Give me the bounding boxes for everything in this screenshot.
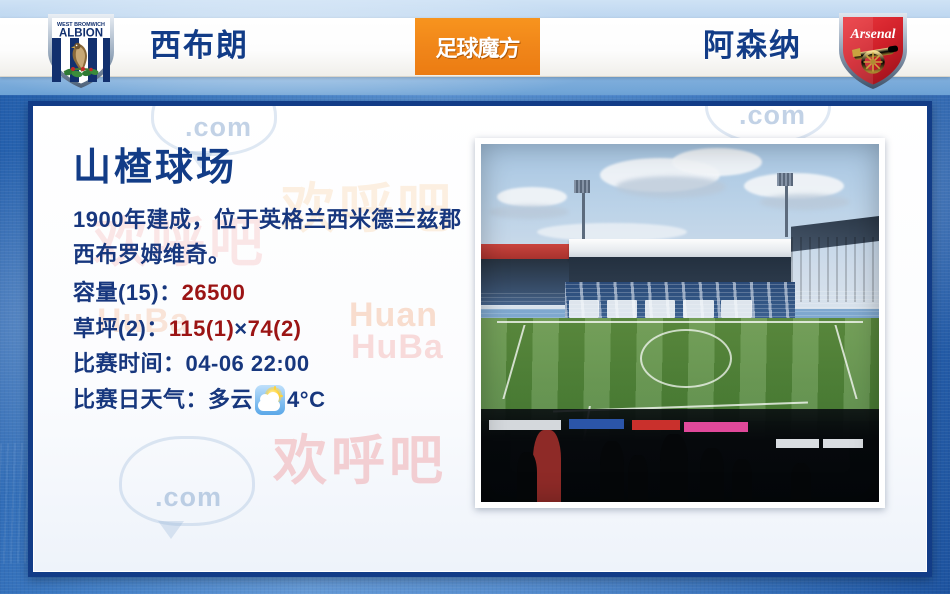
match-time-label: 比赛时间： (73, 351, 186, 376)
away-team-crest[interactable]: Arsenal (834, 6, 912, 92)
capacity-value: 26500 (182, 280, 246, 305)
watermark-brand: 欢呼吧 (273, 416, 447, 495)
pitch-separator: × (234, 316, 247, 341)
capacity-row: 容量(15)：26500 (73, 275, 493, 311)
watermark-bubble (119, 436, 255, 526)
match-time-value: 04-06 22:00 (186, 351, 310, 376)
home-team-name: 西布朗 (150, 20, 249, 72)
cloud-shape (258, 400, 280, 411)
weather-label: 比赛日天气： (73, 382, 208, 418)
pitch-length: 115(1) (169, 316, 234, 341)
match-info-page: WEST BROMWICH ALBION 西布朗 足球魔 (0, 0, 950, 594)
home-team-crest[interactable]: WEST BROMWICH ALBION (42, 6, 120, 92)
stadium-info: 山楂球场 1900年建成，位于英格兰西米德兰兹郡西布罗姆维奇。 容量(15)：2… (73, 148, 493, 418)
stadium-photo-frame[interactable] (475, 138, 885, 508)
pitch-width: 74(2) (248, 316, 302, 341)
weather-condition: 多云 (208, 382, 253, 418)
temperature-value: 4°C (287, 382, 325, 418)
match-time-row: 比赛时间：04-06 22:00 (73, 346, 493, 382)
site-logo[interactable]: 足球魔方 (415, 18, 540, 75)
match-header: WEST BROMWICH ALBION 西布朗 足球魔 (0, 0, 950, 95)
sun-behind-cloud-icon (255, 385, 285, 415)
stadium-title: 山楂球场 (73, 148, 493, 190)
away-team-name: 阿森纳 (703, 20, 802, 72)
svg-text:ALBION: ALBION (59, 28, 103, 40)
pitch-size-row: 草坪(2)：115(1)×74(2) (73, 311, 493, 347)
content-card: .com .com .com 欢呼吧 欢呼吧 欢呼吧 Huan HuBa HuB… (33, 106, 927, 572)
weather-row: 比赛日天气：多云 4°C (73, 382, 493, 418)
the-hawthorns-stadium-photo (481, 144, 879, 502)
pitch-label: 草坪(2)： (73, 316, 169, 341)
photo-vignette (481, 144, 879, 502)
content-frame: .com .com .com 欢呼吧 欢呼吧 欢呼吧 Huan HuBa HuB… (28, 101, 932, 577)
sun-ray (279, 395, 283, 397)
stadium-description: 1900年建成，位于英格兰西米德兰兹郡西布罗姆维奇。 (73, 202, 483, 273)
capacity-label: 容量(15)： (73, 280, 182, 305)
sun-ray (274, 386, 276, 390)
site-logo-text: 足球魔方 (435, 31, 519, 63)
svg-text:Arsenal: Arsenal (849, 27, 895, 42)
